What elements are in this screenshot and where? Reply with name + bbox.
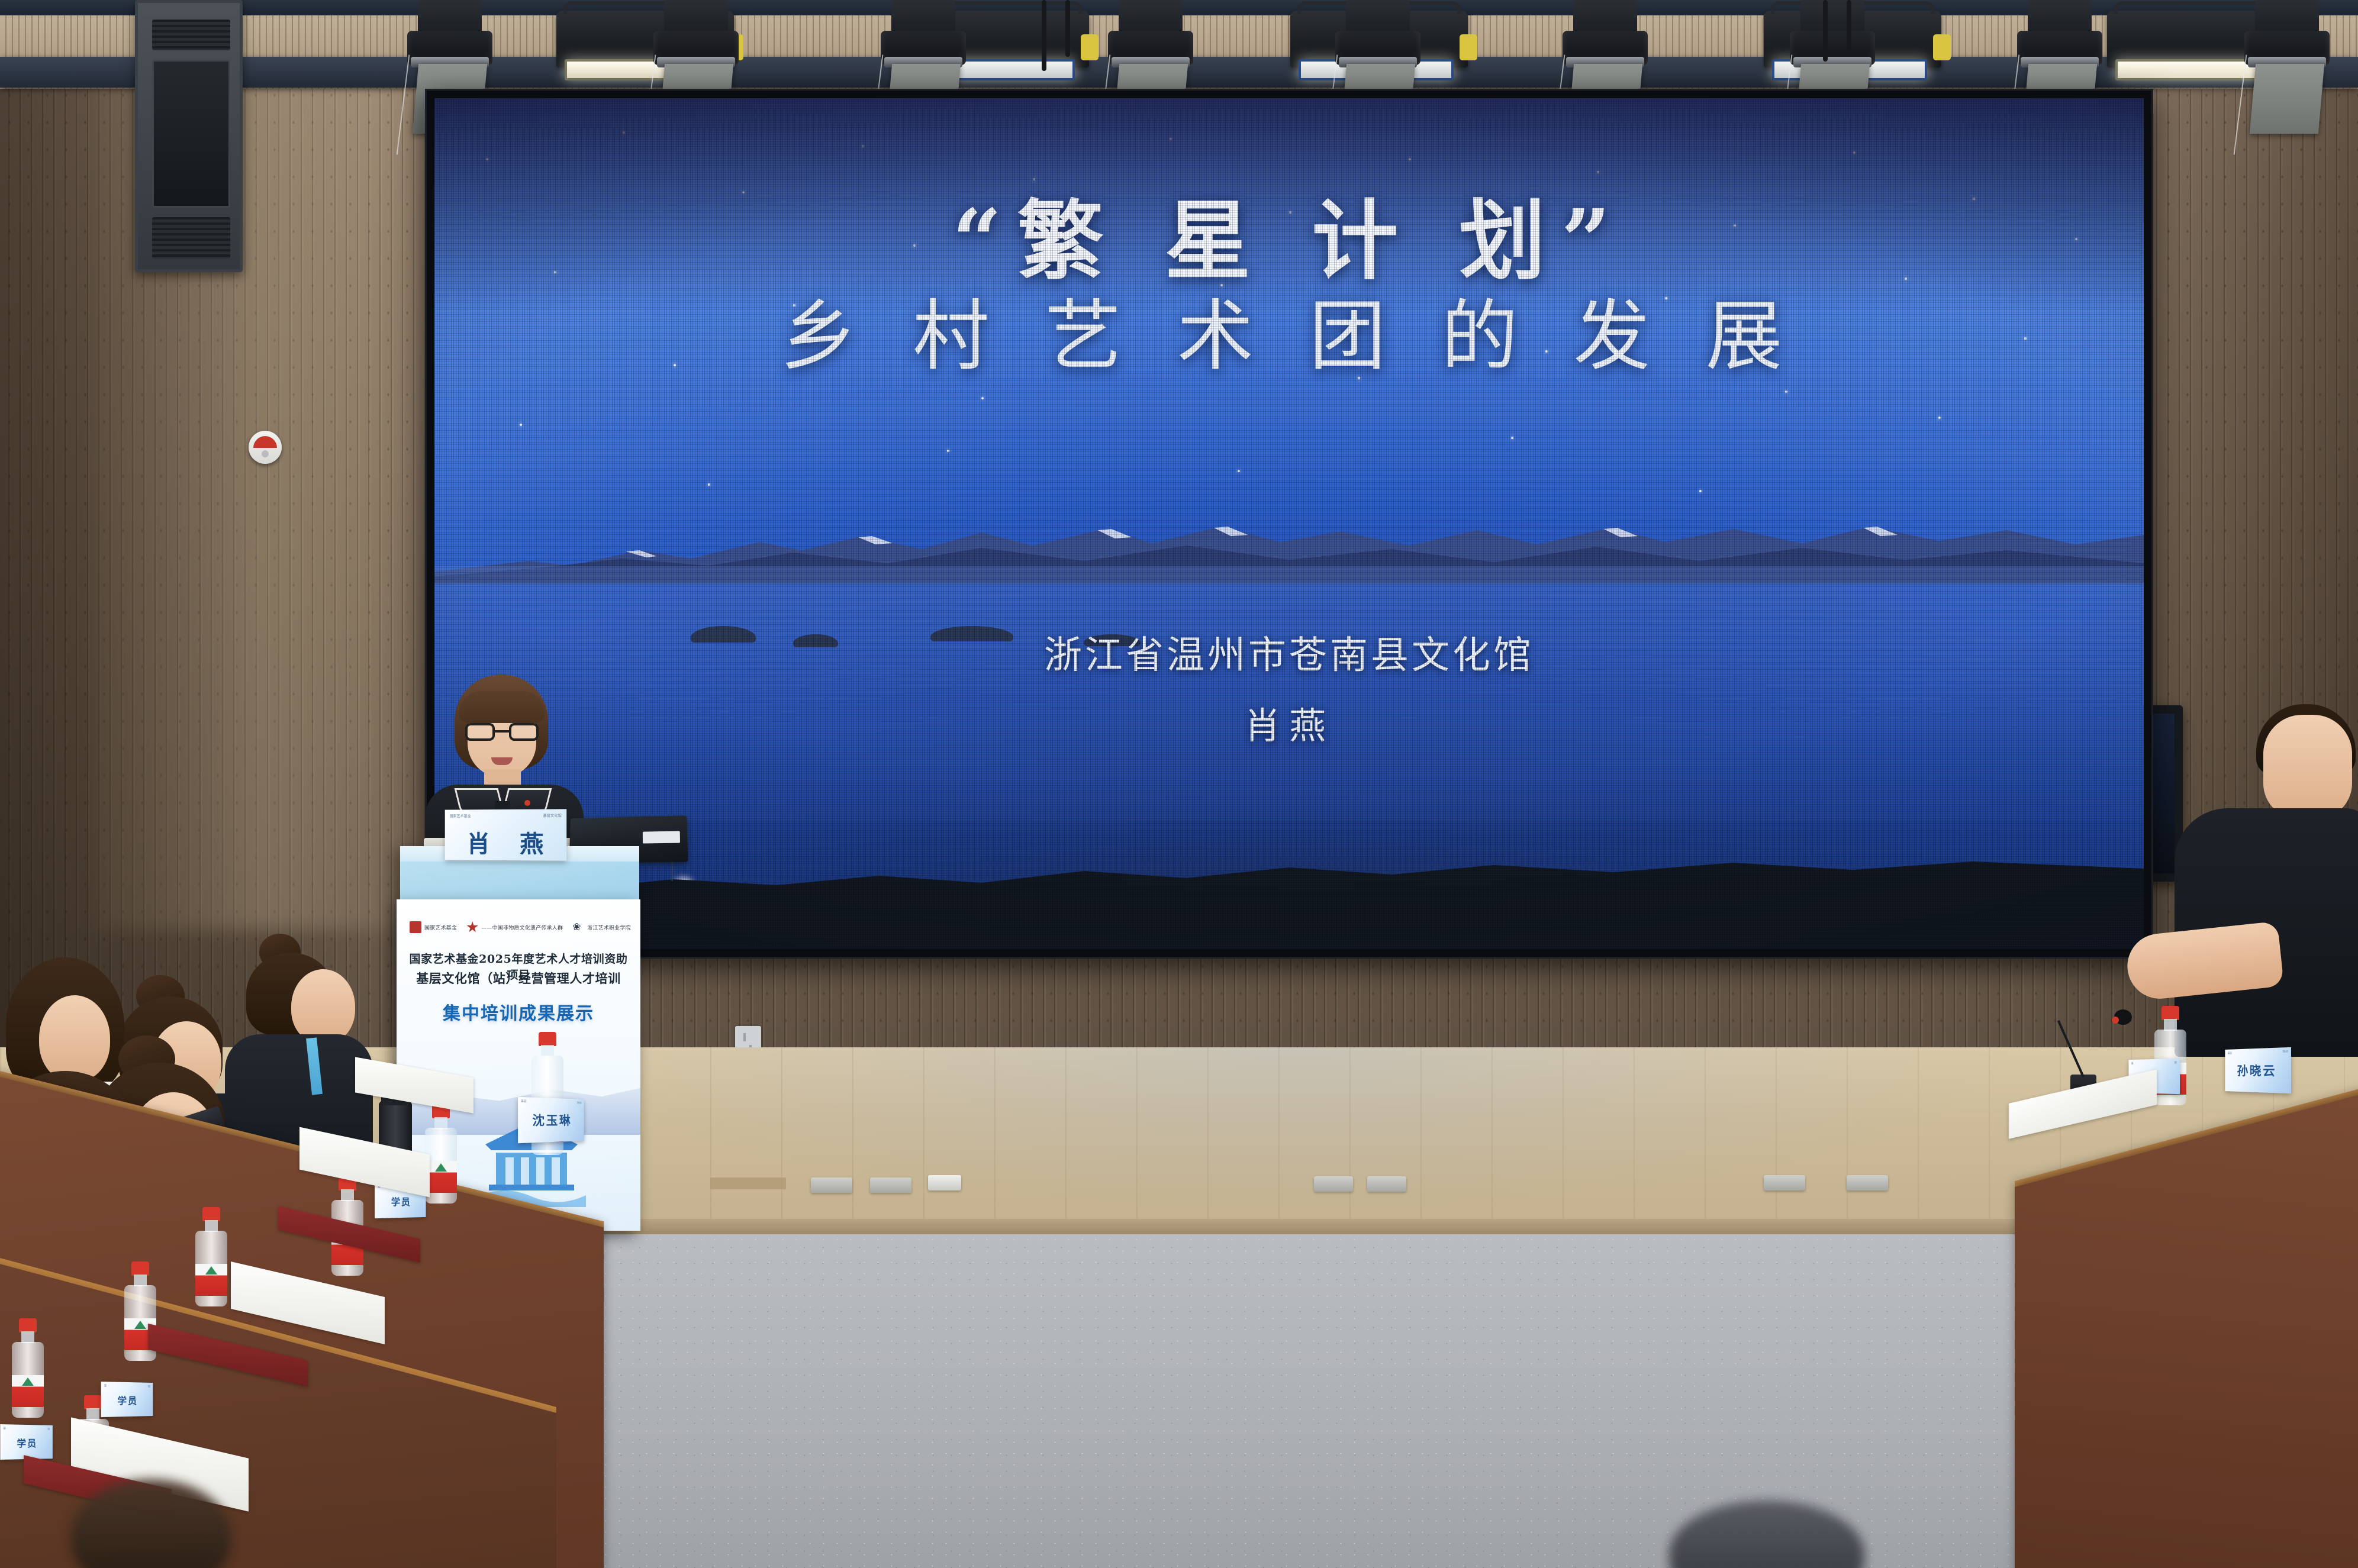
fire-alarm-strobe-icon (249, 431, 282, 464)
bottle-label (12, 1375, 44, 1407)
moving-head-light (871, 0, 975, 89)
moving-head-light (398, 0, 502, 89)
stage-floor-socket (1314, 1176, 1353, 1192)
host-academy-logo-text: ——中国非物质文化遗产传承人群 (481, 924, 563, 931)
moving-head-light (2008, 0, 2112, 89)
lighting-cable (1065, 0, 1070, 57)
host-academy-logo: ——中国非物质文化遗产传承人群 (466, 921, 563, 933)
podium-name-card: 国家艺术基金 基层文化馆 肖 燕 (445, 809, 567, 860)
stage-floor-socket (1367, 1176, 1406, 1192)
bottle-label (195, 1264, 227, 1296)
podium-name-text: 肖 燕 (445, 825, 567, 860)
screen-vignette (434, 98, 2144, 949)
speaker-grille-bottom (152, 217, 230, 259)
table-name-card-text: 沈玉琳 (518, 1111, 584, 1130)
moving-head-light (1326, 0, 1430, 89)
presenter-fringe (459, 691, 545, 723)
presidium-name-card: 基层培训 孙晓云 (2225, 1047, 2291, 1093)
lighting-cable (1042, 0, 1046, 71)
vocational-academy-logo-text: 浙江艺术职业学院 (587, 924, 631, 931)
arts-fund-logo-text: 国家艺术基金 (424, 924, 457, 931)
stage-floor-socket (1764, 1175, 1805, 1190)
arts-fund-seal-icon (410, 921, 421, 933)
lighting-cable (1847, 0, 1851, 50)
stage-screen-reflection (414, 1047, 2166, 1225)
presidium-name-card-text: 孙晓云 (2225, 1061, 2291, 1080)
speaker-grille-top (152, 20, 230, 50)
table-name-card: 基培 学员 (101, 1382, 153, 1417)
moving-head-light (644, 0, 748, 89)
table-name-card: 基层培训 沈玉琳 (518, 1097, 584, 1143)
vocational-academy-logo: ❀ 浙江艺术职业学院 (572, 921, 631, 933)
presenter-glasses (465, 723, 539, 741)
lighting-cable (1823, 0, 1828, 62)
podium-name-card-header: 国家艺术基金 基层文化馆 (449, 813, 562, 822)
banner-logo-row: 国家艺术基金 ——中国非物质文化遗产传承人群 ❀ 浙江艺术职业学院 (410, 917, 630, 937)
presidium-attendee-head (2263, 715, 2352, 819)
attendee-head (291, 969, 355, 1044)
conference-hall-scene: “繁 星 计 划” 乡 村 艺 术 团 的 发 展 浙江省温州市苍南县文化馆 肖… (0, 0, 2358, 1568)
microphone-indicator-light (2112, 1017, 2119, 1024)
moving-head-light (1780, 0, 1885, 89)
dancer-icon: ❀ (572, 921, 584, 933)
stage-floor-socket (811, 1177, 852, 1193)
led-screen: “繁 星 计 划” 乡 村 艺 术 团 的 发 展 浙江省温州市苍南县文化馆 肖… (434, 98, 2144, 949)
wall-speaker (135, 0, 243, 272)
stage-floor-strip (710, 1177, 786, 1189)
name-card-header-left: 国家艺术基金 (449, 813, 471, 821)
moving-head-light (2235, 0, 2339, 89)
table-name-card-text: 学员 (101, 1393, 153, 1408)
moving-head-light (1553, 0, 1657, 89)
banner-line-3: 集中培训成果展示 (404, 999, 633, 1025)
table-name-card-text: 学员 (375, 1194, 426, 1209)
stage-floor-socket (870, 1177, 911, 1193)
banner-line-2: 基层文化馆（站）经营管理人才培训 (404, 969, 633, 987)
moving-head-light (1099, 0, 1203, 89)
laptop-label (643, 831, 680, 843)
presenter-mic-dot (524, 800, 530, 806)
name-card-header-right: 基层文化馆 (543, 813, 562, 821)
table-name-card-text: 学员 (0, 1435, 53, 1450)
stage-floor-socket (1847, 1175, 1888, 1190)
microphone-stem (2057, 1020, 2085, 1077)
stage-floor-socket (928, 1175, 961, 1190)
arts-fund-logo: 国家艺术基金 (410, 921, 457, 933)
speaker-grille-main (152, 60, 230, 208)
bottle-label (425, 1161, 457, 1193)
table-name-card: 基培 学员 (0, 1424, 53, 1460)
star-seal-icon (466, 921, 478, 933)
